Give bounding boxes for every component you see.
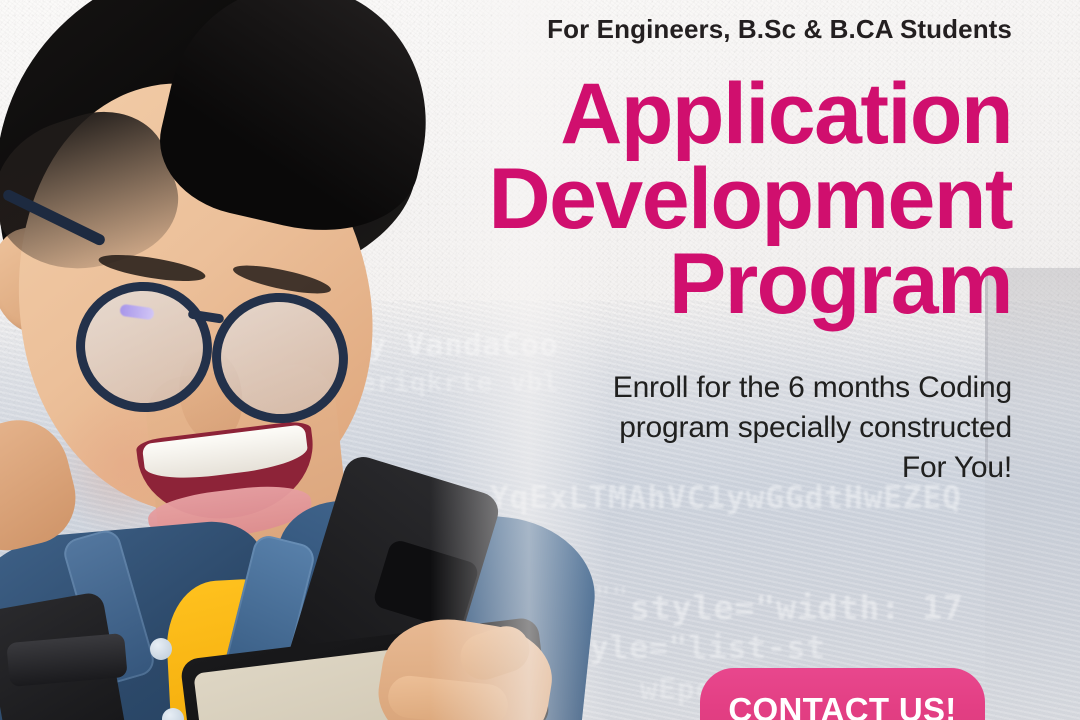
subtitle-line-2: program specially constructed bbox=[452, 408, 1012, 448]
headline-line-1: Application bbox=[372, 72, 1012, 157]
right-side-panel bbox=[985, 268, 1080, 720]
subtitle-line-1: Enroll for the 6 months Coding bbox=[452, 368, 1012, 408]
headline-line-2: Development bbox=[372, 157, 1012, 242]
jacket-button bbox=[150, 638, 172, 660]
contact-us-button[interactable]: CONTACT US! bbox=[700, 668, 985, 720]
eyebrow-text: For Engineers, B.Sc & B.CA Students bbox=[547, 14, 1012, 45]
headline-line-3: Program bbox=[372, 242, 1012, 327]
promo-poster: ivy VandaCoo eriqkrte vbl YqExLTMAhVC1yw… bbox=[0, 0, 1080, 720]
subtitle-line-3: For You! bbox=[452, 448, 1012, 488]
subtitle-text: Enroll for the 6 months Coding program s… bbox=[452, 368, 1012, 489]
page-title: Application Development Program bbox=[372, 72, 1012, 327]
contact-us-label: CONTACT US! bbox=[728, 691, 956, 720]
